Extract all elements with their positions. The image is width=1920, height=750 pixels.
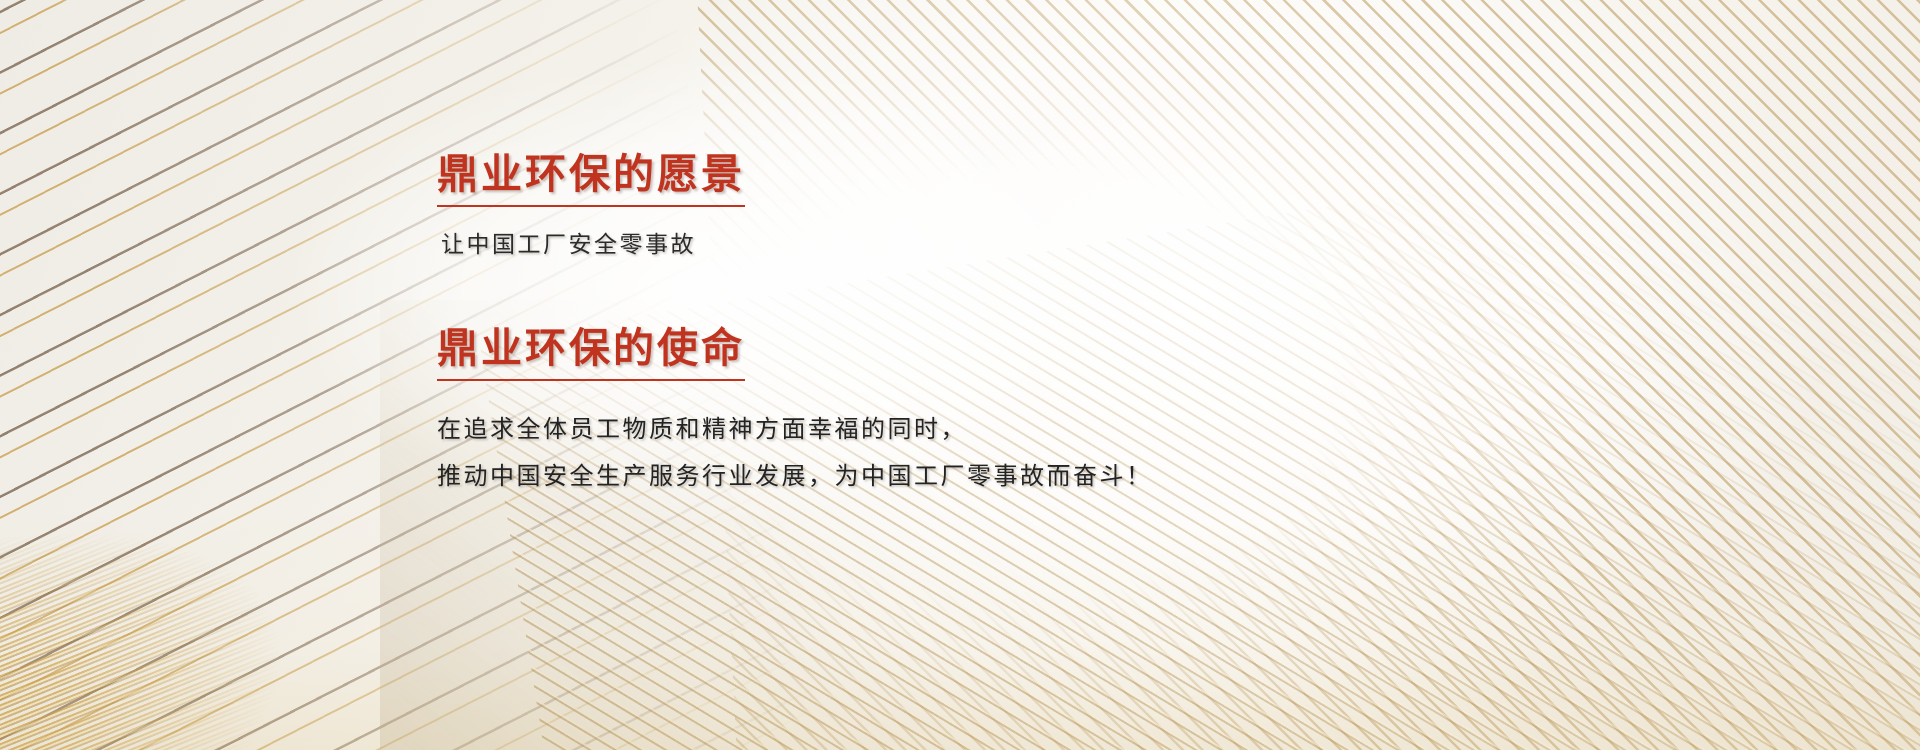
vision-subtitle: 让中国工厂安全零事故 bbox=[441, 227, 1337, 262]
mission-block: 鼎业环保的使命 在追求全体员工物质和精神方面幸福的同时， 推动中国安全生产服务行… bbox=[437, 324, 1337, 501]
vision-heading: 鼎业环保的愿景 bbox=[437, 150, 745, 207]
banner-content: 鼎业环保的愿景 让中国工厂安全零事故 鼎业环保的使命 在追求全体员工物质和精神方… bbox=[437, 150, 1337, 501]
mission-heading: 鼎业环保的使命 bbox=[437, 324, 745, 381]
vision-block: 鼎业环保的愿景 让中国工厂安全零事故 bbox=[437, 150, 1337, 262]
vision-mission-banner: 鼎业环保的愿景 让中国工厂安全零事故 鼎业环保的使命 在追求全体员工物质和精神方… bbox=[0, 0, 1920, 750]
mission-body: 在追求全体员工物质和精神方面幸福的同时， 推动中国安全生产服务行业发展，为中国工… bbox=[437, 407, 1337, 501]
mission-body-line-1: 在追求全体员工物质和精神方面幸福的同时， bbox=[437, 407, 1337, 454]
mission-body-line-2: 推动中国安全生产服务行业发展，为中国工厂零事故而奋斗！ bbox=[437, 454, 1337, 501]
